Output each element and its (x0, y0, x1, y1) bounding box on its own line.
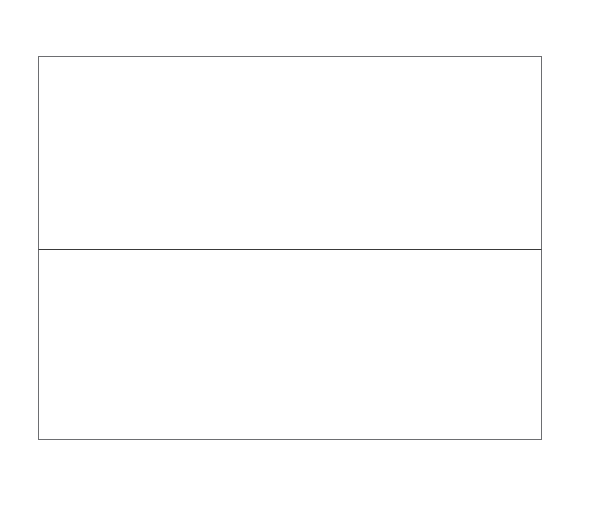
net-change-annotation-arrow (0, 0, 600, 519)
chart-root (0, 0, 600, 519)
